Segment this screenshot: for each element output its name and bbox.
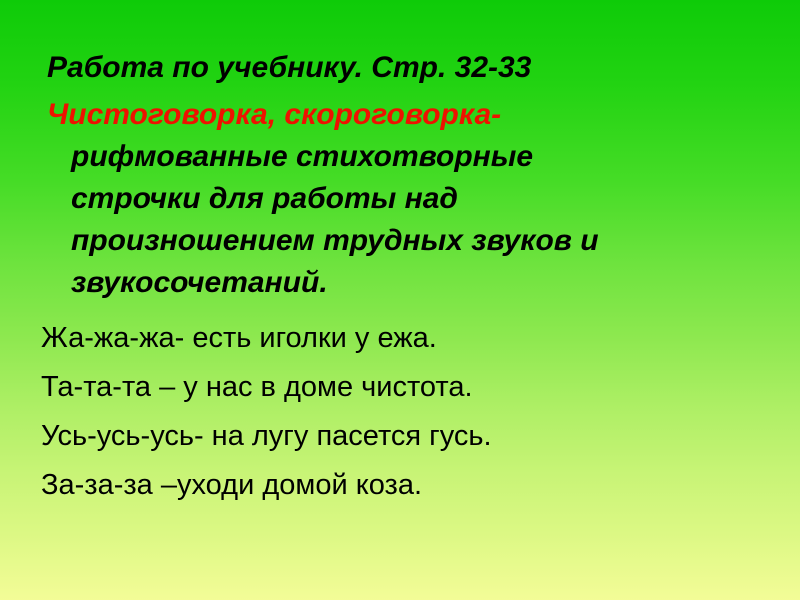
slide-title: Работа по учебнику. Стр. 32-33 [0,47,800,89]
phrase-item-2: Та-та-та – у нас в доме чистота. [0,363,800,412]
definition-body-line-3: произношением трудных звуков и [0,220,800,262]
slide-canvas: Работа по учебнику. Стр. 32-33 Чистогово… [0,0,800,600]
definition-body-line-1: рифмованные стихотворные [0,136,800,178]
phrase-list: Жа-жа-жа- есть иголки у ежа. Та-та-та – … [0,314,800,510]
phrase-item-3: Усь-усь-усь- на лугу пасется гусь. [0,412,800,461]
definition-body-line-4: звукосочетаний. [0,262,800,304]
phrase-item-4: За-за-за –уходи домой коза. [0,461,800,510]
definition-body-line-2: строчки для работы над [0,178,800,220]
slide-content: Работа по учебнику. Стр. 32-33 Чистогово… [0,0,800,510]
phrase-item-1: Жа-жа-жа- есть иголки у ежа. [0,314,800,363]
definition-term: Чистоговорка, скороговорка- [0,94,800,136]
